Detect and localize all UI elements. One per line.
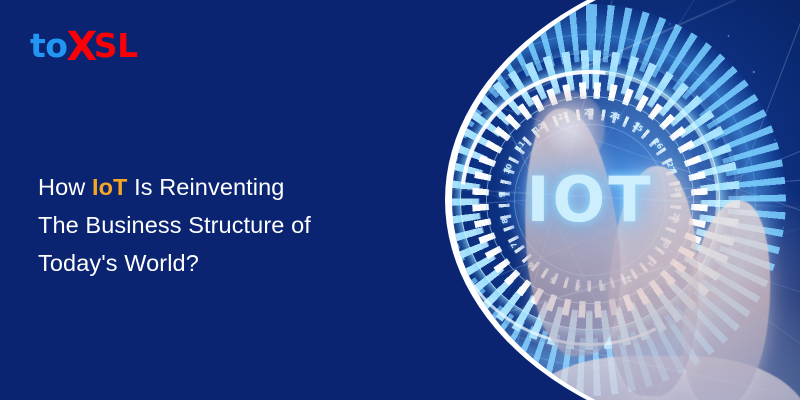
hero-image-panel: 222324252627282930123456789101112 IOT [380,0,800,400]
iot-wordmark: IOT [526,169,653,231]
fingertip-glow [534,91,605,166]
headline-line-2: The Business Structure of [38,206,368,244]
logo-text-sl: SL [94,26,138,65]
headline-line-3: Today's World? [38,244,368,282]
headline-line1-before: How [38,174,92,200]
toxsl-logo[interactable]: toXSL [30,24,138,64]
page-title: How IoT Is Reinventing The Business Stru… [38,168,368,282]
iot-blog-banner: 222324252627282930123456789101112 IOT to [0,0,800,400]
headline-accent-iot: IoT [92,174,128,200]
logo-text-to: to [30,26,67,65]
left-content-panel: toXSL How IoT Is Reinventing The Busines… [0,0,420,400]
logo-text-x: X [66,27,96,67]
hero-image: 222324252627282930123456789101112 IOT [380,0,800,400]
headline-line-1: How IoT Is Reinventing [38,168,368,206]
bottom-haze [380,296,800,400]
headline-line1-after: Is Reinventing [128,174,285,200]
